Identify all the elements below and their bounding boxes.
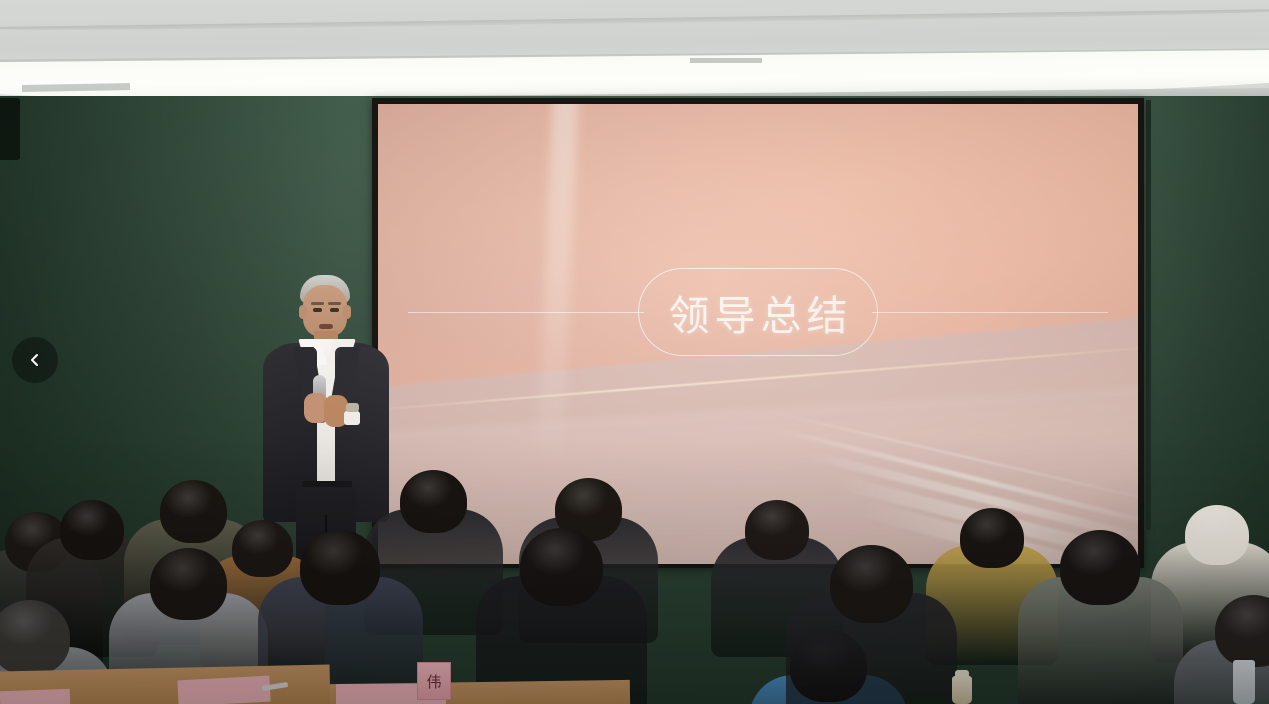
slide-title-rule-right xyxy=(872,312,1108,313)
slide-title-rule-left xyxy=(408,312,644,313)
attendee-head xyxy=(1060,530,1140,605)
attendee-head xyxy=(400,470,467,533)
attendee-head xyxy=(960,508,1024,568)
screen-edge-shadow xyxy=(1146,100,1151,530)
attendee-head xyxy=(300,530,380,605)
slide-title-pill: 领导总结 xyxy=(638,268,878,356)
projection-screen: 领导总结 xyxy=(378,104,1138,564)
attendee-head xyxy=(745,500,809,560)
wall-speaker-box xyxy=(0,98,20,160)
slide-title-group: 领导总结 xyxy=(378,104,1138,564)
chevron-left-icon xyxy=(28,353,42,367)
attendee-head xyxy=(150,548,227,620)
presenter-head xyxy=(303,285,347,337)
presenter-cuff xyxy=(344,411,360,425)
presenter-ear xyxy=(299,305,307,319)
presentation-photo: 领导总结 xyxy=(0,0,1269,704)
presenter-eyebrow xyxy=(328,302,341,305)
attendee-head xyxy=(520,528,603,606)
presenter-ear xyxy=(343,305,351,319)
water-bottle xyxy=(952,676,972,704)
ceiling-vent xyxy=(690,58,762,63)
attendee-head xyxy=(0,600,70,675)
water-bottle xyxy=(1233,660,1255,704)
attendee-head xyxy=(232,520,293,577)
presenter-mouth xyxy=(319,324,333,329)
desk-paper xyxy=(177,676,270,704)
attendee-head xyxy=(830,545,913,623)
attendee-head xyxy=(1185,505,1249,565)
presenter-eyebrow xyxy=(311,302,324,305)
presenter-eye xyxy=(330,308,339,312)
attendee-head xyxy=(160,480,227,543)
previous-image-button[interactable] xyxy=(12,337,58,383)
bottle-cap xyxy=(955,670,969,678)
name-placard: 伟 xyxy=(417,662,451,700)
attendee-head xyxy=(60,500,124,560)
presenter-eye xyxy=(313,308,322,312)
slide-title-text: 领导总结 xyxy=(664,282,853,342)
presenter-watch xyxy=(346,403,359,412)
desk-paper xyxy=(0,689,70,704)
